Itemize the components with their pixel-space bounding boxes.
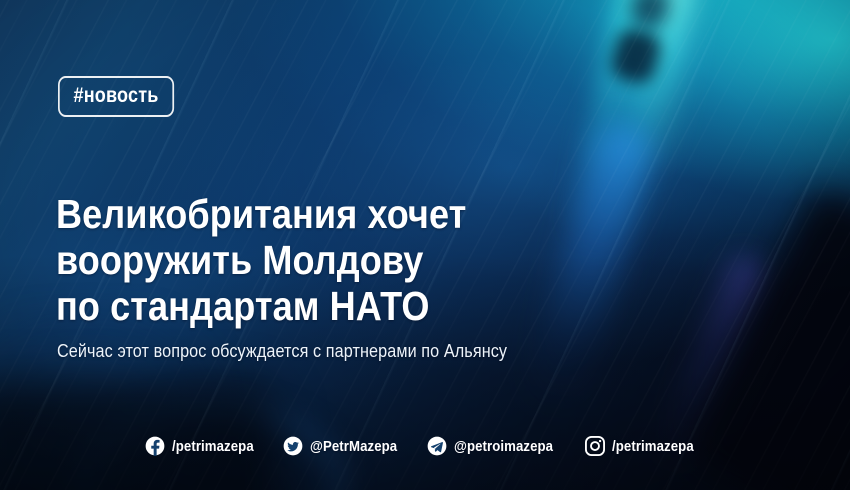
social-link-instagram[interactable]: /petrimazepa: [585, 436, 705, 456]
social-link-facebook[interactable]: /petrimazepa: [145, 436, 265, 456]
twitter-icon: [283, 436, 303, 456]
social-handle-telegram: @petroimazepa: [454, 439, 553, 454]
social-link-twitter[interactable]: @PetrMazepa: [283, 436, 409, 456]
social-links: /petrimazepa @PetrMazepa @petroimazepa: [0, 436, 850, 456]
subtitle: Сейчас этот вопрос обсуждается с партнер…: [57, 341, 507, 363]
page-title: Великобритания хочет вооружить Молдову п…: [56, 192, 654, 330]
news-card: #новость Великобритания хочет вооружить …: [0, 0, 850, 490]
telegram-icon: [427, 436, 447, 456]
card-content: #новость Великобритания хочет вооружить …: [0, 0, 850, 490]
social-handle-facebook: /petrimazepa: [172, 439, 254, 454]
social-handle-twitter: @PetrMazepa: [310, 439, 397, 454]
tag-badge[interactable]: #новость: [58, 76, 174, 117]
social-link-telegram[interactable]: @petroimazepa: [427, 436, 567, 456]
social-handle-instagram: /petrimazepa: [612, 439, 694, 454]
facebook-icon: [145, 436, 165, 456]
instagram-icon: [585, 436, 605, 456]
